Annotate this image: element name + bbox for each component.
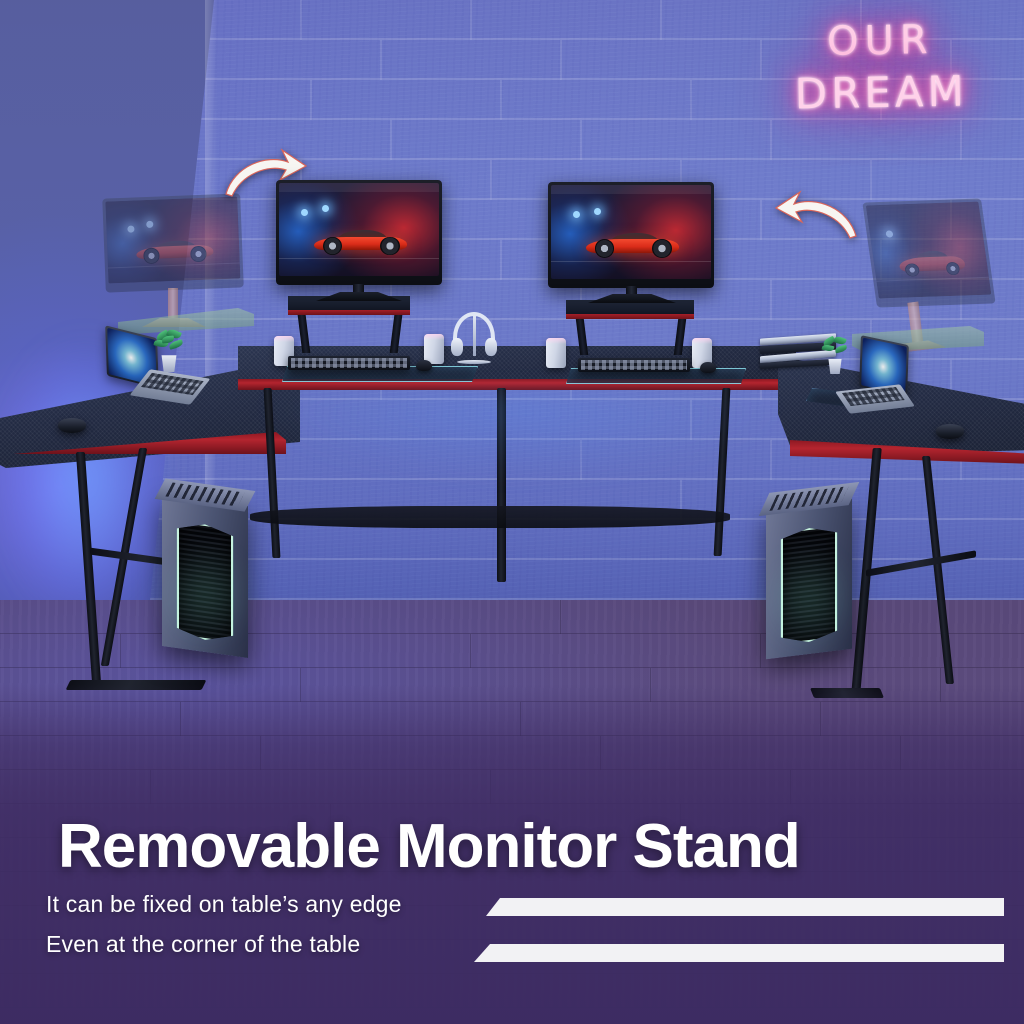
headphone-earcup: [451, 338, 463, 356]
page-title: Removable Monitor Stand: [58, 816, 800, 878]
monitor-bezel: [548, 182, 714, 288]
plant-pot: [160, 355, 178, 372]
laptop-right[interactable]: [846, 340, 942, 414]
keyboard-left[interactable]: [288, 356, 410, 370]
laptop-keyboard[interactable]: [141, 373, 203, 396]
potted-plant-left: [152, 332, 186, 372]
headphone-stand: [450, 312, 498, 364]
monitor-bezel: [276, 180, 442, 285]
laptop-base: [835, 384, 915, 413]
desk-cable-tray: [250, 506, 730, 528]
monitor-left[interactable]: [276, 180, 442, 285]
riser-edge-accent-right: [566, 314, 694, 319]
car-wallpaper: [314, 231, 407, 255]
car-wallpaper: [136, 240, 213, 264]
pc-rgb-light-strip: [177, 520, 234, 644]
puck-speaker-right: [936, 424, 964, 439]
pc-rgb-light-strip: [781, 525, 838, 646]
stand-post: [473, 316, 476, 356]
keyboard-keys: [581, 360, 687, 370]
mouse-right[interactable]: [700, 362, 716, 373]
desk-speaker: [546, 338, 566, 368]
mouse-left[interactable]: [416, 360, 432, 371]
neon-sign: OUR DREAM: [741, 16, 1021, 141]
accent-bar-2: [474, 944, 1004, 962]
car-wallpaper: [586, 234, 679, 258]
monitor-screen: [105, 196, 240, 283]
monitor-bezel: [862, 198, 995, 307]
puck-speaker-left: [58, 418, 86, 433]
product-marketing-image: OUR DREAM: [0, 0, 1024, 1024]
monitor-right[interactable]: [548, 182, 714, 288]
car-wallpaper: [897, 251, 966, 277]
monitor-screen: [551, 185, 711, 279]
feature-text-2: Even at the corner of the table: [46, 931, 360, 958]
pc-tower-left: [162, 494, 248, 658]
keyboard-keys: [291, 358, 407, 368]
monitor-ghost-right: [862, 198, 995, 307]
arrow-right-to-left-icon: [774, 186, 860, 242]
headphone-earcup: [485, 338, 497, 356]
laptop-keyboard[interactable]: [842, 387, 905, 406]
accent-bar-1: [486, 898, 1004, 916]
neon-line-1: OUR: [741, 16, 1020, 67]
neon-line-2: DREAM: [742, 66, 1021, 120]
monitor-screen: [866, 202, 992, 299]
stand-base: [457, 360, 492, 364]
pc-tower-right: [766, 499, 852, 660]
monitor-bezel: [102, 193, 244, 292]
monitor-screen: [279, 183, 439, 276]
keyboard-right[interactable]: [578, 358, 690, 372]
feature-text-1: It can be fixed on table’s any edge: [46, 891, 402, 918]
plant-pot: [827, 359, 843, 374]
monitor-ghost-left: [102, 193, 244, 292]
desk-leg: [497, 388, 506, 582]
riser-edge-accent-left: [288, 310, 410, 315]
